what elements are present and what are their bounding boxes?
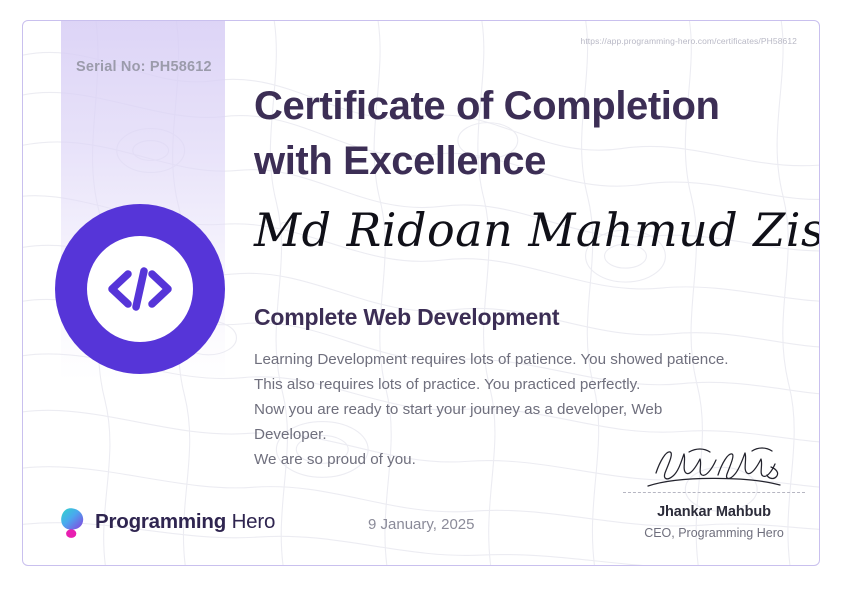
signer-role: CEO, Programming Hero — [623, 526, 805, 540]
code-seal-badge — [55, 204, 225, 374]
signature-divider — [623, 492, 805, 493]
badge-inner-circle — [87, 236, 193, 342]
certificate-title-line-2: with Excellence — [254, 134, 794, 189]
recipient-name: Md Ridoan Mahmud Zisan — [254, 207, 814, 253]
code-brackets-icon — [105, 264, 175, 314]
brand-wordmark: Programming Hero — [95, 510, 275, 534]
body-line-1: Learning Development requires lots of pa… — [254, 347, 820, 372]
handwritten-signature-icon — [623, 441, 805, 489]
course-name: Complete Web Development — [254, 304, 814, 331]
serial-number: Serial No: PH58612 — [76, 59, 212, 75]
programming-hero-brand: Programming Hero — [56, 505, 275, 539]
issue-date: 9 January, 2025 — [368, 516, 474, 533]
signer-name: Jhankar Mahbub — [623, 504, 805, 520]
body-line-2: This also requires lots of practice. You… — [254, 372, 820, 397]
certificate-page: Serial No: PH58612 https://app.programmi… — [0, 0, 842, 600]
certificate-card: Serial No: PH58612 https://app.programmi… — [22, 20, 820, 566]
body-line-3: Now you are ready to start your journey … — [254, 397, 820, 422]
certificate-title-line-1: Certificate of Completion — [254, 79, 794, 134]
verification-url[interactable]: https://app.programming-hero.com/certifi… — [581, 36, 797, 46]
page-title: Certificate of Completion with Excellenc… — [254, 79, 794, 189]
signature-block: Jhankar Mahbub CEO, Programming Hero — [623, 441, 805, 540]
programming-hero-logo-icon — [56, 505, 86, 539]
brand-name-bold: Programming — [95, 510, 226, 533]
brand-name-light: Hero — [232, 510, 276, 533]
